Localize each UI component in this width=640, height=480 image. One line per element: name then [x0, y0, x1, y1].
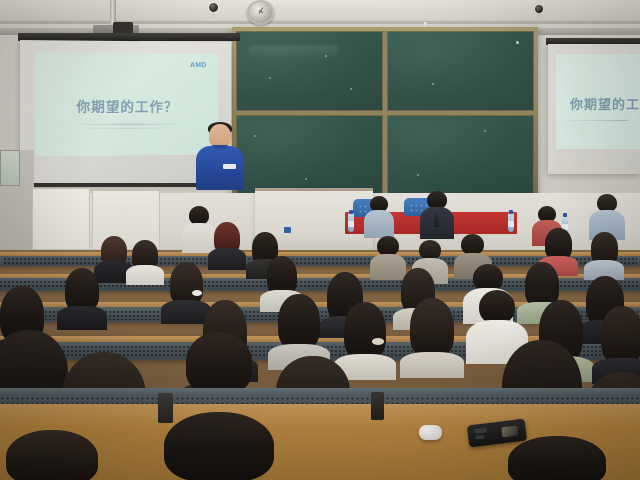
hair-tie: [372, 338, 384, 345]
audience-member: [422, 191, 452, 239]
hair: [186, 332, 252, 394]
wall-camera-right-icon: [533, 4, 546, 18]
audience-member: [60, 268, 104, 326]
left-window: [0, 150, 20, 186]
wall-clock-icon: [247, 0, 274, 25]
earbud-case: [419, 425, 442, 440]
phone-camera-secondary: [475, 435, 484, 440]
hair-tie: [192, 290, 202, 296]
head: [377, 236, 399, 256]
presenter: [196, 124, 244, 190]
blackboard-panes: [236, 31, 534, 195]
presenter-shirt-logo: [223, 164, 236, 169]
slide-title: 你期望的工作？: [35, 97, 218, 117]
audience-member: [210, 222, 244, 264]
slide-underline: [558, 120, 628, 121]
audience-member: [498, 436, 618, 480]
hair: [6, 430, 98, 480]
bottle-cap: [349, 210, 353, 214]
water-bottle: [348, 213, 354, 232]
bottle-cap: [509, 210, 513, 214]
lectern-sticker: [284, 227, 291, 233]
shoulders: [57, 306, 107, 330]
left-whiteboard-panel: [32, 188, 90, 250]
bottle-label: [508, 221, 514, 227]
phone-camera: [474, 427, 487, 433]
audience-member: [150, 412, 290, 480]
presenter-polo-shirt: [196, 146, 244, 190]
hair: [508, 436, 606, 480]
water-bottle: [508, 213, 514, 232]
secondary-projection-screen: 你期望的工: [548, 44, 640, 174]
slide-content: 你期望的工: [556, 54, 640, 149]
head: [461, 234, 484, 255]
shoulders: [364, 210, 394, 238]
audience-member: [404, 298, 460, 374]
shoulders: [126, 265, 164, 285]
slide-content: AMD 你期望的工作？: [35, 52, 218, 156]
slide-logo: AMD: [190, 62, 207, 69]
ceiling-edge-line: [0, 21, 640, 24]
slide-underline: [69, 124, 187, 125]
head: [419, 240, 441, 260]
water-bottle: [371, 392, 384, 420]
hair: [164, 412, 274, 480]
classroom-blackboard: [232, 27, 538, 199]
hair: [278, 294, 320, 350]
camera-mount: [212, 12, 214, 18]
shoulders: [208, 248, 246, 270]
shoulders: [400, 352, 464, 378]
bottle-cap: [563, 213, 567, 217]
hair: [601, 306, 640, 364]
audience-member: [0, 430, 110, 480]
audience-member: [596, 306, 640, 380]
head: [479, 290, 515, 324]
wall-camera-icon: [206, 2, 221, 18]
bottle-label: [348, 221, 354, 227]
blackboard-pane: [236, 115, 383, 195]
hair: [344, 302, 386, 360]
slide-underline-secondary: [78, 128, 175, 129]
slide-title: 你期望的工: [570, 94, 640, 113]
blackboard-pane: [236, 31, 383, 111]
audience-member: [586, 232, 622, 278]
audience-member: [366, 196, 392, 238]
hair: [410, 298, 454, 358]
lecture-hall-photo: AMD 你期望的工作？ 你期望的工: [0, 0, 640, 480]
blackboard-pane: [387, 115, 534, 195]
camera-mount: [538, 13, 540, 18]
audience-member: [128, 240, 162, 282]
blackboard-pane: [387, 31, 534, 111]
